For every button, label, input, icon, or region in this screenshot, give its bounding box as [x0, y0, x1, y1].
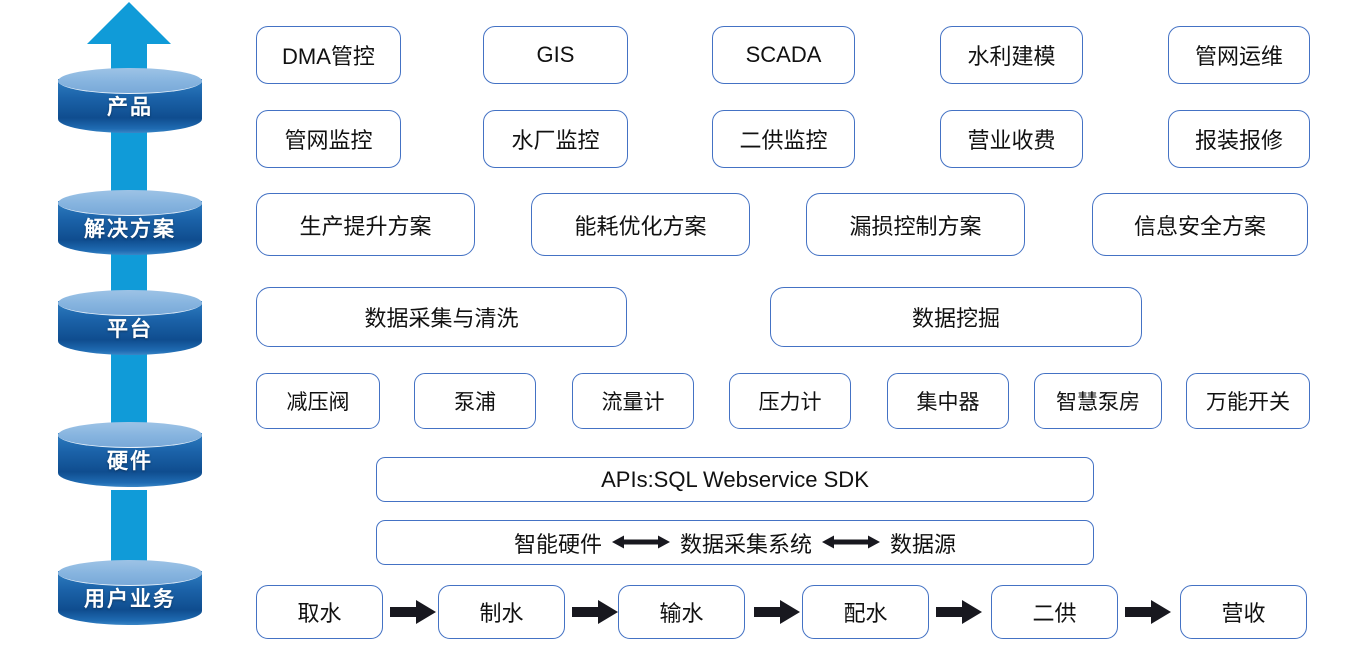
spine-layer-label: 平台 — [58, 313, 202, 343]
datasource-part-data-source: 数据源 — [890, 527, 956, 559]
solution-box-production-improvement[interactable]: 生产提升方案 — [256, 193, 475, 256]
spine-layer-solution[interactable]: 解决方案 — [58, 190, 202, 266]
business-box-revenue[interactable]: 营收 — [1180, 585, 1307, 639]
platform-box-data-acquisition-cleaning[interactable]: 数据采集与清洗 — [256, 287, 627, 347]
up-arrow-icon — [87, 2, 171, 44]
right-arrow-icon — [572, 599, 618, 629]
product-box-dma[interactable]: DMA管控 — [256, 26, 401, 84]
business-box-transmission[interactable]: 输水 — [618, 585, 745, 639]
right-arrow-icon — [1125, 599, 1171, 629]
hardware-box-pressure-gauge[interactable]: 压力计 — [729, 373, 851, 429]
spine-layer-business[interactable]: 用户业务 — [58, 560, 202, 636]
spine-layer-label: 硬件 — [58, 445, 202, 475]
solution-box-energy-optimization[interactable]: 能耗优化方案 — [531, 193, 750, 256]
spine-layer-label: 用户业务 — [58, 583, 202, 613]
solution-box-leakage-control[interactable]: 漏损控制方案 — [806, 193, 1025, 256]
layer-spine: 产品 解决方案 平台 硬件 用户业务 — [0, 0, 250, 653]
api-bar[interactable]: APIs:SQL Webservice SDK — [376, 457, 1094, 502]
spine-layer-label: 解决方案 — [58, 213, 202, 243]
double-headed-arrow-icon — [822, 530, 880, 556]
business-box-intake[interactable]: 取水 — [256, 585, 383, 639]
business-box-distribution[interactable]: 配水 — [802, 585, 929, 639]
spine-layer-hardware[interactable]: 硬件 — [58, 422, 202, 498]
product-box-secondary-supply-monitoring[interactable]: 二供监控 — [712, 110, 855, 168]
product-box-scada[interactable]: SCADA — [712, 26, 855, 84]
hardware-box-pressure-reducing-valve[interactable]: 减压阀 — [256, 373, 380, 429]
right-arrow-icon — [390, 599, 436, 629]
datasource-part-acquisition-system: 数据采集系统 — [680, 527, 812, 559]
product-box-hydraulic-modeling[interactable]: 水利建模 — [940, 26, 1083, 84]
product-box-pipe-network-monitoring[interactable]: 管网监控 — [256, 110, 401, 168]
product-box-billing[interactable]: 营业收费 — [940, 110, 1083, 168]
right-arrow-icon — [754, 599, 800, 629]
product-box-installation-repair[interactable]: 报装报修 — [1168, 110, 1310, 168]
product-box-waterworks-monitoring[interactable]: 水厂监控 — [483, 110, 628, 168]
hardware-box-flow-meter[interactable]: 流量计 — [572, 373, 694, 429]
datasource-part-smart-hardware: 智能硬件 — [514, 527, 602, 559]
spine-layer-product[interactable]: 产品 — [58, 68, 202, 144]
right-arrow-icon — [936, 599, 982, 629]
double-headed-arrow-icon — [612, 530, 670, 556]
product-box-gis[interactable]: GIS — [483, 26, 628, 84]
business-box-treatment[interactable]: 制水 — [438, 585, 565, 639]
product-box-pipe-network-om[interactable]: 管网运维 — [1168, 26, 1310, 84]
datasource-bar[interactable]: 智能硬件 数据采集系统 数据源 — [376, 520, 1094, 565]
hardware-box-smart-pump-room[interactable]: 智慧泵房 — [1034, 373, 1162, 429]
platform-box-data-mining[interactable]: 数据挖掘 — [770, 287, 1142, 347]
hardware-box-universal-switch[interactable]: 万能开关 — [1186, 373, 1310, 429]
solution-box-information-security[interactable]: 信息安全方案 — [1092, 193, 1308, 256]
business-box-secondary-supply[interactable]: 二供 — [991, 585, 1118, 639]
hardware-box-pump[interactable]: 泵浦 — [414, 373, 536, 429]
spine-layer-platform[interactable]: 平台 — [58, 290, 202, 366]
hardware-box-concentrator[interactable]: 集中器 — [887, 373, 1009, 429]
spine-layer-label: 产品 — [58, 91, 202, 121]
